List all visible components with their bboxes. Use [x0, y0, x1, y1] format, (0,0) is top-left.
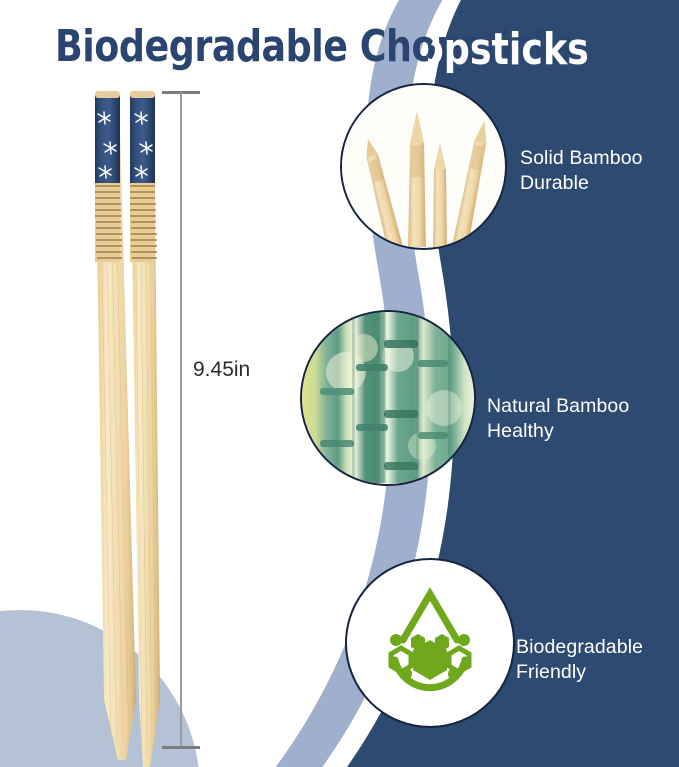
- handle-left: [95, 91, 120, 183]
- measurement-label: 9.45in: [193, 358, 250, 382]
- measure-line: [180, 92, 182, 749]
- feature-label-solid-bamboo: Solid Bamboo Durable: [520, 146, 670, 196]
- handle-right: [130, 91, 155, 183]
- page-title-text-dark: Biodegradable Chopsticks: [55, 14, 578, 80]
- bamboo-stalks-icon: [300, 310, 476, 486]
- feature-label-biodegradable: Biodegradable Friendly: [516, 635, 676, 685]
- feature-label-natural-bamboo: Natural Bamboo Healthy: [487, 394, 662, 444]
- grip-rings-right: [130, 182, 157, 262]
- biodegradable-droplet-icon: [345, 558, 515, 728]
- chopsticks-illustration: [0, 0, 300, 767]
- chopstick-tips-icon: [340, 83, 507, 250]
- grip-rings-left: [95, 182, 122, 262]
- chopstick-left: [95, 91, 136, 760]
- measure-cap-bottom: [162, 746, 200, 749]
- infographic-canvas: Biodegradable Chopsticks Biodegradable C…: [0, 0, 679, 767]
- page-title: Biodegradable Chopsticks Biodegradable C…: [0, 14, 679, 80]
